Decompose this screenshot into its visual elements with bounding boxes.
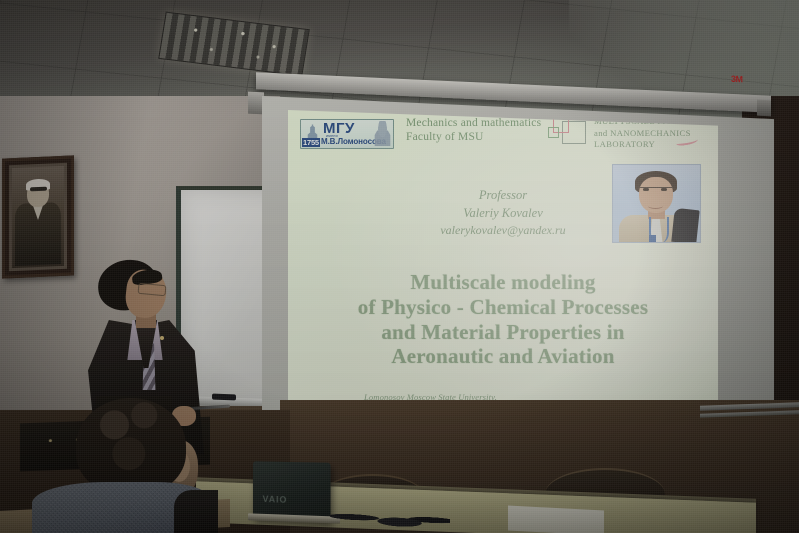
laptop-brand-logo: VAIO [263,494,288,505]
presenter-name: Valeriy Kovalev [288,204,718,222]
portrait-mat [9,163,67,272]
portrait-image [12,166,64,268]
casing-end-cap-left [248,92,264,115]
faculty-line-2: Faculty of MSU [406,130,541,144]
slide-content: МГУ имени М.В.Ломоносова 1755 Mechanics … [288,110,718,450]
title-line-2: of Physico - Chemical Processes [288,295,718,320]
slide-title: Multiscale modeling of Physico - Chemica… [288,270,718,369]
lomonosov-bust-icon [374,121,391,146]
msu-logo: МГУ имени М.В.Ломоносова 1755 [300,119,394,149]
presenter-block: Professor Valeriy Kovalev valerykovalev@… [288,186,718,240]
nested-squares-icon [548,118,592,144]
title-line-4: Aeronautic and Aviation [288,344,718,369]
title-line-1: Multiscale modeling [288,270,718,295]
laptop[interactable]: VAIO [253,461,331,522]
msu-founding-year: 1755 [302,138,320,147]
listener-hair [76,398,186,494]
paper-sheet [508,505,604,533]
casing-end-cap-right [757,100,771,117]
faculty-label: Mechanics and mathematics Faculty of MSU [406,116,541,145]
speaker-glasses-icon [138,283,167,296]
seated-listener [18,398,208,533]
3m-brand-logo: 3M [731,74,743,85]
presenter-email: valerykovalev@yandex.ru [288,222,718,239]
presenter-role: Professor [288,186,718,204]
conference-room-photo: 3M МГУ имени М.В.Ломоносова 1755 Mechani… [0,0,799,533]
portrait-glasses-icon [30,187,47,192]
projected-slide: МГУ имени М.В.Ломоносова 1755 Mechanics … [288,110,718,450]
title-line-3: and Material Properties in [288,320,718,345]
speaker-lapel-pin [160,336,164,340]
whiteboard-marker [212,394,236,401]
framed-portrait [2,155,74,278]
square-green-icon [548,127,559,138]
listener-shoulder [174,490,218,533]
